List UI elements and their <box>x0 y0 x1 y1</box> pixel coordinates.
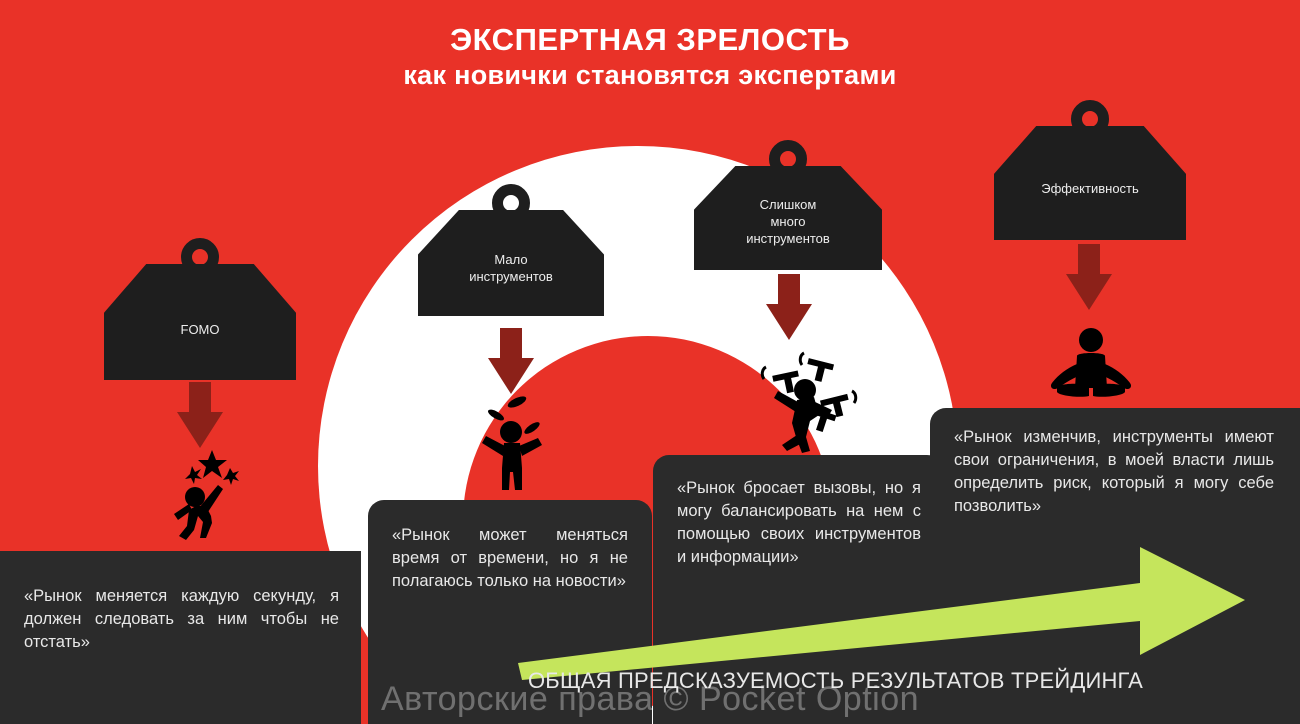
weight-stage-1: FOMO <box>104 238 296 380</box>
growth-arrow-icon <box>500 535 1260 680</box>
down-arrow-stage-3 <box>766 274 812 340</box>
title-primary: ЭКСПЕРТНАЯ ЗРЕЛОСТЬ <box>0 22 1300 58</box>
bottom-caption: ОБЩАЯ ПРЕДСКАЗУЕМОСТЬ РЕЗУЛЬТАТОВ ТРЕЙДИ… <box>528 668 1143 694</box>
quote-text-stage-1: «Рынок меняется каждую секунду, я должен… <box>24 585 339 654</box>
weight-body: Слишком много инструментов <box>694 166 882 270</box>
weight-body: FOMO <box>104 264 296 380</box>
weight-body: Эффективность <box>994 126 1186 240</box>
down-arrow-stage-2 <box>488 328 534 394</box>
weight-stage-3: Слишком много инструментов <box>694 140 882 270</box>
weight-body: Мало инструментов <box>418 210 604 316</box>
meditating-person-icon <box>1043 326 1139 404</box>
weight-stage-2: Мало инструментов <box>418 184 604 316</box>
infographic-canvas: ЭКСПЕРТНАЯ ЗРЕЛОСТЬ как новички становят… <box>0 0 1300 724</box>
weight-stage-4: Эффективность <box>994 100 1186 240</box>
quote-text-stage-4: «Рынок изменчив, инструменты имеют свои … <box>954 426 1274 518</box>
quote-panel-stage-1: «Рынок меняется каждую секунду, я должен… <box>0 551 361 724</box>
juggler-person-icon <box>470 388 556 493</box>
arrow-head <box>177 412 223 448</box>
weight-label-stage-3: Слишком много инструментов <box>736 196 840 247</box>
down-arrow-stage-1 <box>177 382 223 448</box>
overwhelmed-juggler-person-icon <box>760 345 865 455</box>
arrow-head <box>766 304 812 340</box>
weight-label-stage-4: Эффективность <box>1031 180 1149 197</box>
page-title: ЭКСПЕРТНАЯ ЗРЕЛОСТЬ как новички становят… <box>0 22 1300 92</box>
down-arrow-stage-4 <box>1066 244 1112 310</box>
arrow-head <box>1066 274 1112 310</box>
running-person-reaching-star-icon <box>170 448 250 544</box>
weight-label-stage-1: FOMO <box>171 321 230 338</box>
title-secondary: как новички становятся экспертами <box>0 58 1300 92</box>
weight-label-stage-2: Мало инструментов <box>459 251 563 285</box>
